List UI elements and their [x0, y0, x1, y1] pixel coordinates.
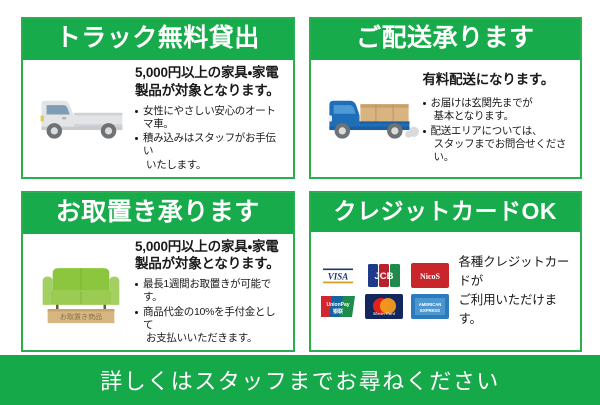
unionpay-card-icon: UnionPay 银联	[319, 294, 357, 319]
bullet-line-2: スタッフまでお問合せください。	[431, 138, 573, 164]
credit-card-copy-line-1: 各種クレジットカードが	[459, 253, 573, 291]
service-panel-grid: トラック無料貸出	[0, 0, 600, 352]
svg-text:AMERICAN: AMERICAN	[418, 302, 441, 307]
panel-truck-rental-lead: 5,000円以上の家具・家電製品が対象となります。	[135, 64, 285, 100]
svg-text:VISA: VISA	[327, 271, 348, 281]
panel-truck-rental: トラック無料貸出	[21, 17, 295, 179]
panel-layaway-body: お取置き商品 5,000円以上の家具・家電製品が対象となります。 最長1週間お取…	[23, 234, 293, 351]
panel-delivery-bullets: お届けは玄関先までが 基本となります。 配送エリアについては、 スタッフまでお問…	[423, 97, 573, 165]
mastercard-card-icon: MasterCard	[365, 294, 403, 319]
panel-delivery-header: ご配送承ります	[311, 19, 581, 60]
blue-delivery-truck-illustration	[315, 87, 423, 149]
svg-text:UnionPay: UnionPay	[326, 302, 349, 308]
bullet-line-1: 最長1週間お取置きが可能です。	[143, 278, 271, 303]
panel-delivery: ご配送承ります	[309, 17, 583, 179]
bullet-item: お届けは玄関先までが 基本となります。	[423, 97, 573, 123]
panel-credit-card-copy: 各種クレジットカードが ご利用いただけます。	[459, 253, 573, 328]
panel-credit-card-header: クレジットカードOK	[311, 193, 581, 232]
footer-banner: 詳しくはスタッフまでお尋ねください	[0, 355, 600, 405]
panel-truck-rental-copy: 5,000円以上の家具・家電製品が対象となります。 女性にやさしい安心のオートマ…	[135, 64, 287, 173]
panel-layaway-copy: 5,000円以上の家具・家電製品が対象となります。 最長1週間お取置きが可能です…	[135, 238, 287, 347]
svg-text:EXPRESS: EXPRESS	[420, 308, 440, 313]
bullet-item: 積み込みはスタッフがお手伝い いたします。	[135, 132, 285, 172]
credit-card-copy-line-2: ご利用いただけます。	[459, 291, 573, 329]
panel-delivery-copy: 有料配送になります。 お届けは玄関先までが 基本となります。 配送エリアについて…	[423, 71, 575, 165]
bullet-line-1: 配送エリアについては、	[431, 125, 543, 137]
panel-truck-rental-body: 5,000円以上の家具・家電製品が対象となります。 女性にやさしい安心のオートマ…	[23, 60, 293, 177]
green-sofa-illustration: お取置き商品	[27, 258, 135, 325]
svg-text:银联: 银联	[331, 308, 342, 315]
panel-truck-rental-bullets: 女性にやさしい安心のオートマ車。 積み込みはスタッフがお手伝い いたします。	[135, 105, 285, 173]
bullet-item: 女性にやさしい安心のオートマ車。	[135, 105, 285, 131]
bullet-line-2: いたします。	[143, 159, 285, 172]
bullet-item: 商品代金の10%を手付金として お支払いいただきます。	[135, 306, 285, 346]
panel-credit-card: クレジットカードOK VISA	[309, 191, 583, 353]
bullet-line-1: 女性にやさしい安心のオートマ車。	[143, 105, 276, 130]
svg-text:MasterCard: MasterCard	[371, 311, 395, 316]
panel-truck-rental-header: トラック無料貸出	[23, 19, 293, 60]
jcb-card-icon: JCB	[365, 263, 403, 288]
accepted-card-logos: VISA JCB NicoS	[319, 263, 449, 319]
bullet-line-1: お届けは玄関先までが	[431, 97, 533, 109]
amex-card-icon: AMERICAN EXPRESS	[411, 294, 449, 319]
visa-card-icon: VISA	[319, 263, 357, 288]
svg-text:NicoS: NicoS	[420, 272, 441, 281]
bullet-line-2: 基本となります。	[431, 110, 573, 123]
nicos-card-icon: NicoS	[411, 263, 449, 288]
panel-layaway-header: お取置き承ります	[23, 193, 293, 234]
panel-layaway: お取置き承ります	[21, 191, 295, 353]
sofa-pedestal-label: お取置き商品	[60, 312, 102, 321]
svg-text:JCB: JCB	[374, 271, 393, 282]
footer-banner-text: 詳しくはスタッフまでお尋ねください	[100, 364, 500, 396]
panel-credit-card-body: VISA JCB NicoS	[311, 232, 581, 351]
panel-layaway-lead: 5,000円以上の家具・家電製品が対象となります。	[135, 238, 285, 274]
bullet-item: 最長1週間お取置きが可能です。	[135, 278, 285, 304]
panel-layaway-bullets: 最長1週間お取置きが可能です。 商品代金の10%を手付金として お支払いいただき…	[135, 278, 285, 346]
bullet-item: 配送エリアについては、 スタッフまでお問合せください。	[423, 125, 573, 165]
white-kei-truck-illustration	[27, 87, 135, 149]
bullet-line-1: 商品代金の10%を手付金として	[143, 306, 275, 331]
bullet-line-1: 積み込みはスタッフがお手伝い	[143, 132, 276, 157]
bullet-line-2: お支払いいただきます。	[143, 332, 285, 345]
panel-delivery-lead: 有料配送になります。	[423, 71, 573, 89]
panel-delivery-body: 有料配送になります。 お届けは玄関先までが 基本となります。 配送エリアについて…	[311, 60, 581, 177]
